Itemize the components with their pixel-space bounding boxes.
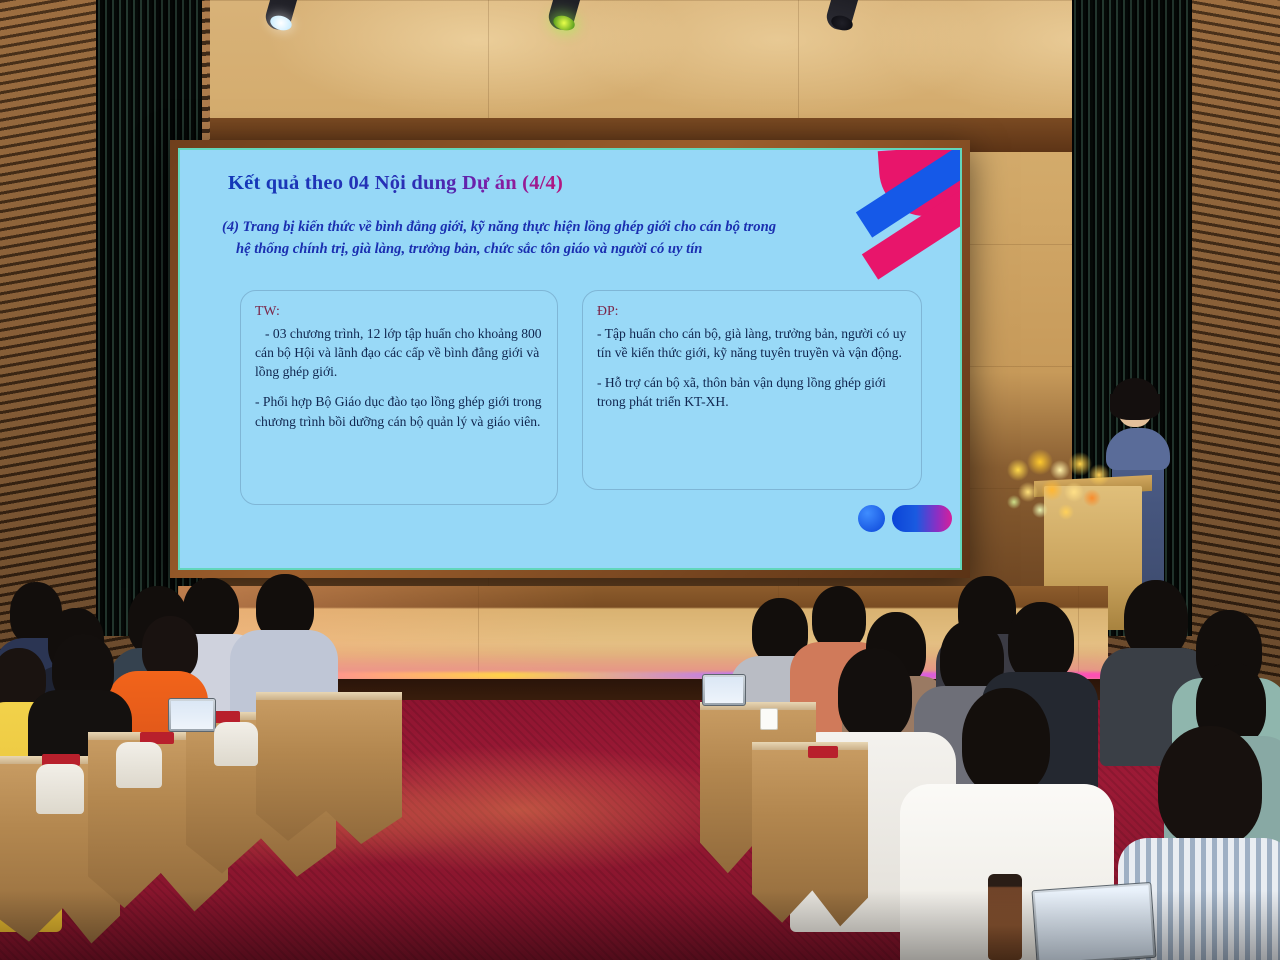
laptop-screen (705, 677, 743, 703)
foreground-laptop[interactable] (1031, 882, 1156, 960)
speaker-hair (1112, 378, 1158, 418)
slide-panel-tw-heading: TW: (255, 301, 545, 321)
audience-area (0, 556, 1280, 960)
slide-title: Kết quả theo 04 Nội dung Dự án (4/4) (228, 172, 563, 195)
red-folder (808, 746, 838, 758)
slide-panel-tw: TW: - 03 chương trình, 12 lớp tập huấn c… (240, 290, 558, 505)
spotlight-3 (823, 0, 863, 40)
blue-circle-icon (858, 505, 885, 532)
flower-arrangement (1000, 440, 1116, 530)
slide-decoration-bottom-right (858, 505, 952, 532)
projection-screen-frame: Kết quả theo 04 Nội dung Dự án (4/4) (4)… (170, 140, 970, 578)
slide-panel-dp-paragraph-1: - Tập huấn cho cán bộ, già làng, trưởng … (597, 324, 909, 363)
name-badge (760, 708, 778, 730)
slide-subtitle-line1: (4) Trang bị kiến thức về bình đẳng giới… (222, 219, 776, 235)
gradient-pill-icon (892, 505, 952, 532)
presentation-slide: Kết quả theo 04 Nội dung Dự án (4/4) (4)… (178, 148, 962, 570)
laptop-screen (1035, 885, 1154, 960)
audience-laptop[interactable] (702, 674, 746, 706)
slide-content-boxes: TW: - 03 chương trình, 12 lớp tập huấn c… (240, 290, 940, 505)
chair-back (36, 764, 84, 814)
slide-subtitle: (4) Trang bị kiến thức về bình đẳng giới… (222, 216, 894, 260)
audience-laptop[interactable] (168, 698, 216, 732)
thermos-flask (988, 874, 1022, 960)
conference-hall-photo: Kết quả theo 04 Nội dung Dự án (4/4) (4)… (0, 0, 1280, 960)
chair-back (214, 722, 258, 766)
spotlight-2 (545, 0, 585, 40)
slide-panel-dp: ĐP: - Tập huấn cho cán bộ, già làng, trư… (582, 290, 922, 490)
slide-panel-tw-paragraph-1: - 03 chương trình, 12 lớp tập huấn cho k… (255, 324, 545, 382)
table-top (256, 692, 402, 701)
laptop-screen (171, 701, 213, 729)
slide-panel-dp-heading: ĐP: (597, 301, 909, 321)
slide-panel-tw-paragraph-2: - Phối hợp Bộ Giáo dục đào tạo lồng ghép… (255, 392, 545, 431)
spotlight-1 (262, 0, 302, 40)
slide-subtitle-line2: hệ thống chính trị, già làng, trưởng bản… (222, 238, 894, 260)
slide-panel-dp-paragraph-2: - Hỗ trợ cán bộ xã, thôn bản vận dụng lồ… (597, 373, 909, 412)
chair-back (116, 742, 162, 788)
